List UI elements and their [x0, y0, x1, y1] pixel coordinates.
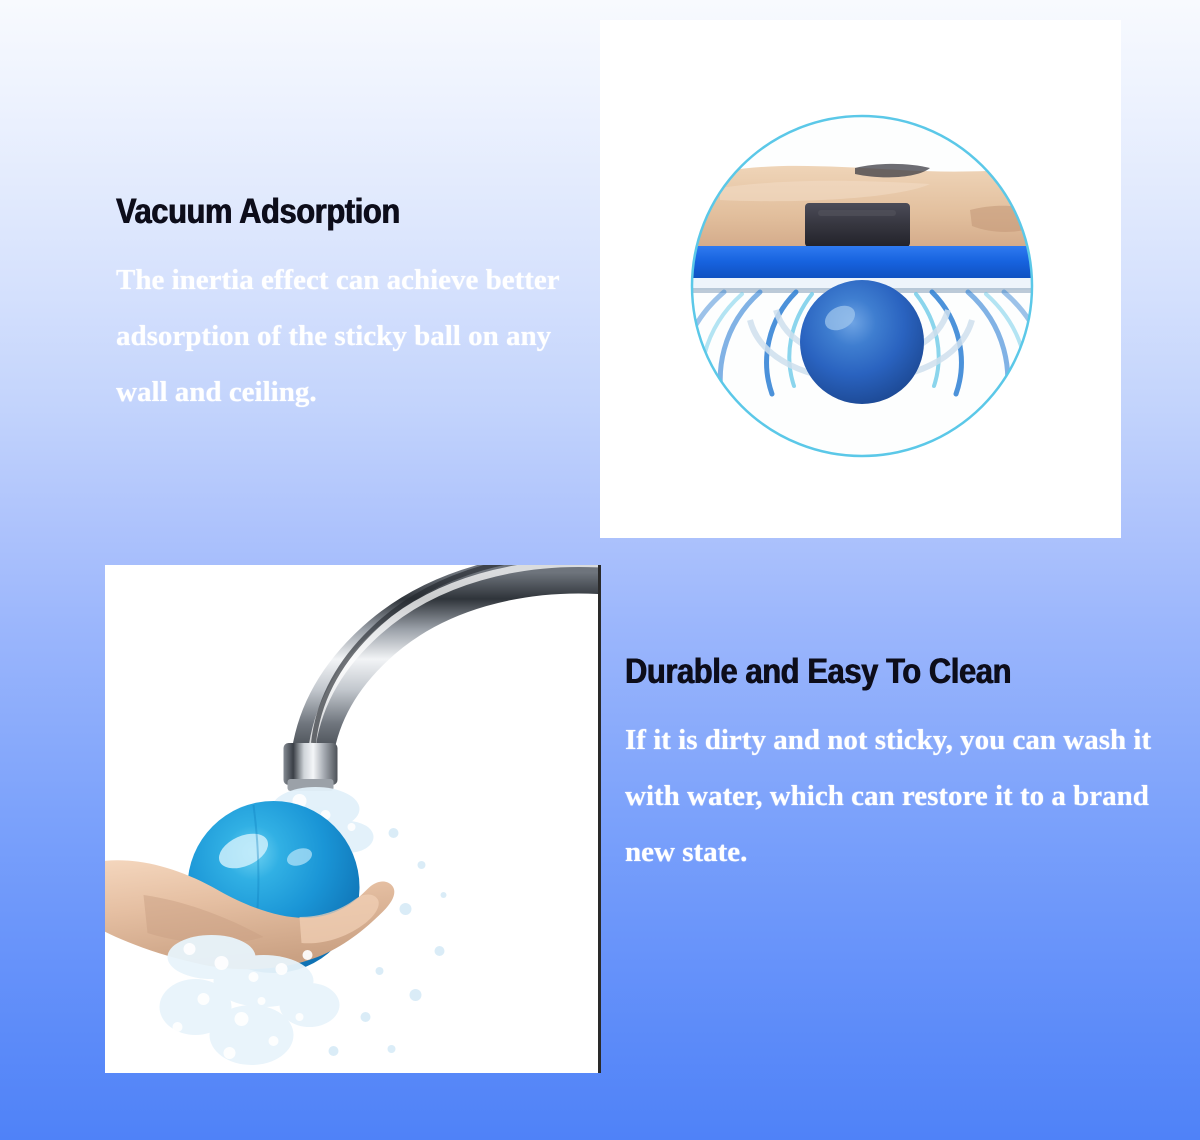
washing-illustration	[105, 565, 598, 1073]
adsorption-illustration	[600, 20, 1121, 538]
adsorption-photo-panel	[600, 20, 1121, 538]
feature-block-vacuum-adsorption: Vacuum Adsorption The inertia effect can…	[116, 192, 576, 420]
clip-highlight	[818, 210, 896, 216]
faucet-nozzle	[284, 743, 338, 785]
feature-heading-durable-easy-clean: Durable and Easy To Clean	[625, 652, 1105, 692]
sticky-ball	[800, 280, 924, 404]
infographic-page: Vacuum Adsorption The inertia effect can…	[0, 0, 1200, 1140]
ceiling-bar	[640, 246, 1090, 280]
feature-body-durable-easy-clean: If it is dirty and not sticky, you can w…	[625, 712, 1170, 880]
feature-block-durable-easy-clean: Durable and Easy To Clean If it is dirty…	[625, 652, 1170, 880]
feature-body-vacuum-adsorption: The inertia effect can achieve better ad…	[116, 252, 576, 420]
feature-heading-vacuum-adsorption: Vacuum Adsorption	[116, 192, 521, 232]
clip-block	[805, 203, 910, 247]
washing-photo-panel	[105, 565, 601, 1073]
